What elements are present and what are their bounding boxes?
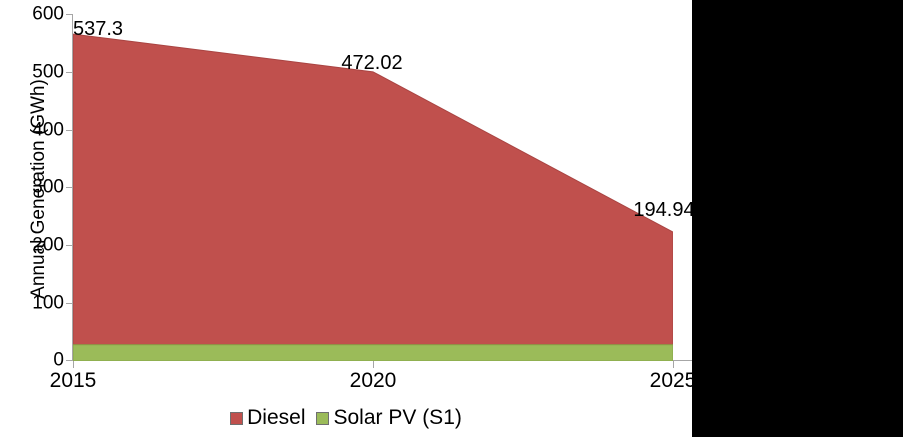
y-tick-label-500: 500 [2,63,64,82]
legend-label-solar-pv: Solar PV (S1) [333,406,461,430]
legend-label-diesel: Diesel [247,406,305,430]
data-label-2015: 537.3 [73,18,123,41]
y-tick-label-100: 100 [2,294,64,313]
series-area-solar-pv [73,345,673,361]
y-tick-mark-300 [66,187,72,188]
series-area-diesel [73,34,673,345]
legend-swatch-solar-pv [316,412,329,425]
chart-canvas: Annual Generation (GWh) 600 500 400 300 … [0,0,692,437]
y-tick-mark-200 [66,245,72,246]
y-tick-mark-500 [66,72,72,73]
legend-swatch-diesel [230,412,243,425]
y-tick-mark-0 [66,360,72,361]
y-tick-label-600: 600 [2,5,64,24]
y-tick-mark-100 [66,303,72,304]
legend-item-diesel[interactable]: Diesel [230,406,305,430]
chart-legend: Diesel Solar PV (S1) [0,406,692,430]
y-tick-label-300: 300 [2,178,64,197]
x-tick-mark-2015 [73,361,74,368]
chart-screenshot: Annual Generation (GWh) 600 500 400 300 … [0,0,903,437]
y-tick-mark-400 [66,130,72,131]
data-label-2025: 194.94 [633,199,692,222]
x-tick-mark-2020 [373,361,374,368]
x-tick-label-2015: 2015 [50,369,97,393]
x-tick-label-2020: 2020 [350,369,397,393]
legend-item-solar-pv[interactable]: Solar PV (S1) [316,406,461,430]
y-tick-mark-600 [66,14,72,15]
x-tick-label-2025: 2025 [650,369,692,393]
data-label-2020: 472.02 [341,52,402,75]
y-tick-label-400: 400 [2,121,64,140]
x-tick-mark-2025 [673,361,674,368]
y-tick-label-0: 0 [2,351,64,370]
y-tick-label-200: 200 [2,236,64,255]
